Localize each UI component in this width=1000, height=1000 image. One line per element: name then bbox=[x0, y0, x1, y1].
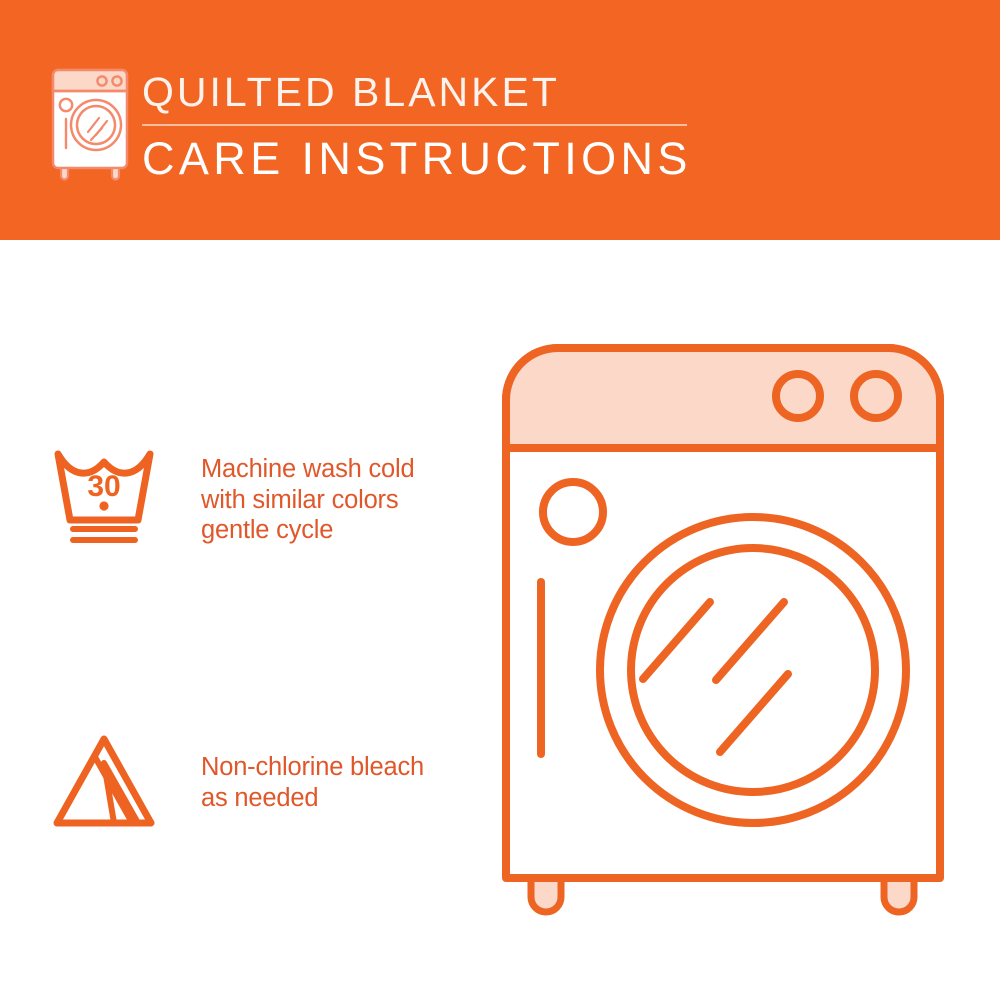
header-title-block: QUILTED BLANKET CARE INSTRUCTIONS bbox=[142, 68, 742, 185]
page-header: QUILTED BLANKET CARE INSTRUCTIONS bbox=[0, 0, 1000, 240]
instruction-line: Machine wash cold bbox=[201, 454, 414, 485]
care-instructions-page: QUILTED BLANKET CARE INSTRUCTIONS 30 bbox=[0, 0, 1000, 1000]
title-divider bbox=[142, 124, 687, 126]
care-instructions-list: 30 Machine wash cold with similar colors… bbox=[0, 240, 480, 1000]
front-load-washing-machine-illustration bbox=[488, 330, 978, 930]
instruction-text-machine-wash: Machine wash cold with similar colors ge… bbox=[201, 454, 414, 546]
wash-basin-30-gentle-icon: 30 bbox=[52, 444, 162, 548]
wash-temperature-label: 30 bbox=[87, 470, 120, 503]
instruction-line: with similar colors bbox=[201, 485, 414, 516]
instruction-line: as needed bbox=[201, 783, 424, 814]
washing-machine-icon bbox=[44, 62, 136, 180]
page-title: QUILTED BLANKET bbox=[142, 68, 742, 116]
page-subtitle: CARE INSTRUCTIONS bbox=[142, 133, 742, 185]
control-panel bbox=[506, 348, 940, 448]
instruction-text-bleach: Non-chlorine bleach as needed bbox=[201, 752, 424, 813]
non-chlorine-bleach-triangle-icon bbox=[52, 731, 162, 835]
instruction-line: Non-chlorine bleach bbox=[201, 752, 424, 783]
instruction-line: gentle cycle bbox=[201, 515, 414, 546]
